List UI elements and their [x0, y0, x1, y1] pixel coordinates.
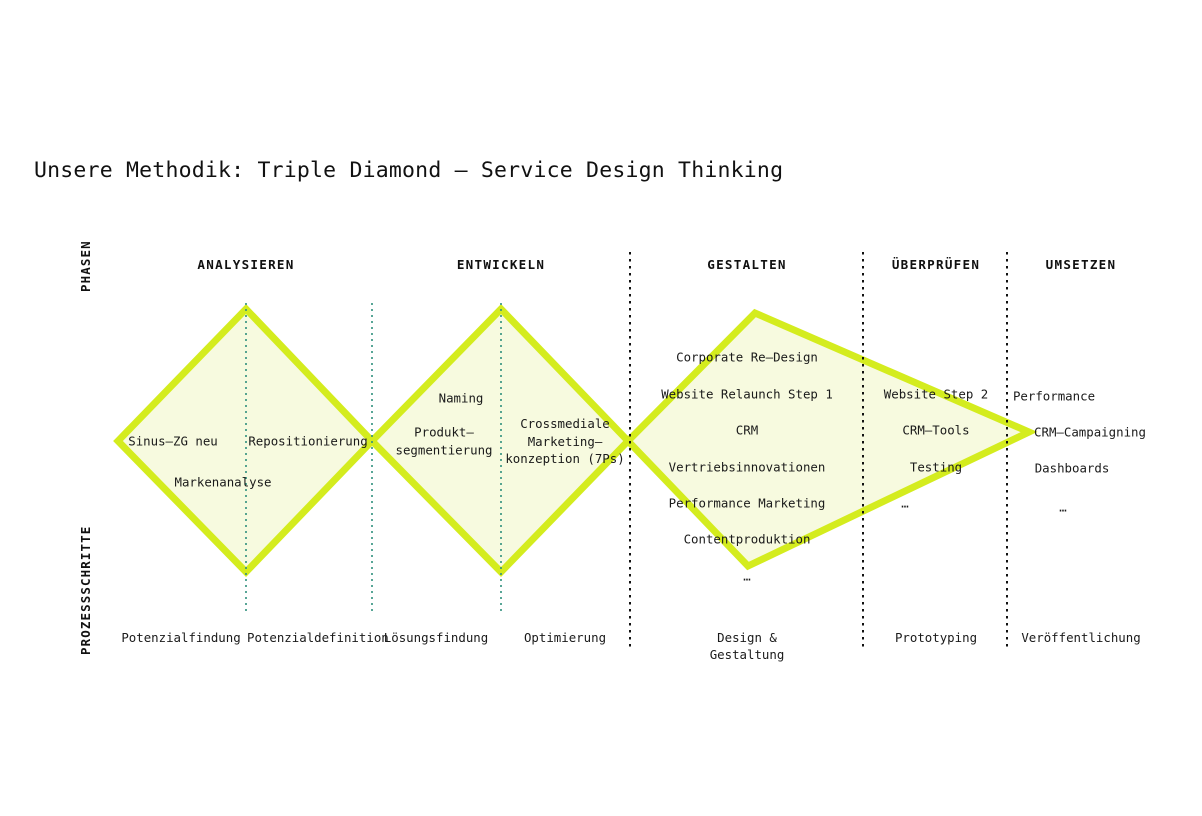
diamond-item-markenanalyse: Markenanalyse [175, 473, 272, 491]
phase-header-umsetzen: UMSETZEN [1046, 257, 1117, 272]
diamond-item-sinus-zg-neu: Sinus–ZG neu [128, 432, 218, 450]
process-step-loesungsfindung: Lösungsfindung [375, 629, 497, 646]
phase-header-analysieren: ANALYSIEREN [197, 257, 294, 272]
diamond-item-performance-marketing: Performance Marketing [669, 494, 826, 512]
diamond-item-contentproduktion: Contentproduktion [684, 530, 811, 548]
diamond-item-testing: Testing [910, 458, 962, 476]
process-step-veroeffentlichung: Veröffentlichung [1020, 629, 1142, 646]
process-step-prototyping: Prototyping [875, 629, 997, 646]
axis-label-phasen: PHASEN [78, 240, 93, 292]
process-step-design-gestaltung: Design & Gestaltung [686, 629, 808, 663]
phase-header-ueberpruefen: ÜBERPRÜFEN [892, 257, 980, 272]
phase-header-entwickeln: ENTWICKELN [457, 257, 545, 272]
diamond-item-performance: Performance [1013, 387, 1095, 405]
diamond-item-vertriebsinnovationen: Vertriebsinnovationen [669, 458, 826, 476]
diagram-canvas [0, 0, 1202, 816]
diamond-item-gestalten-ellipsis: … [743, 567, 750, 585]
diamond-item-ueberpruefen-ellipsis: … [901, 494, 908, 512]
diamond-item-crm: CRM [736, 421, 758, 439]
process-step-potenzialfindung: Potenzialfindung [120, 629, 242, 646]
diamond-item-website-relaunch-step-1: Website Relaunch Step 1 [661, 385, 833, 403]
diamond-item-crm-campaigning: CRM–Campaigning [1034, 423, 1146, 441]
process-step-optimierung: Optimierung [504, 629, 626, 646]
diamond-item-crm-tools: CRM–Tools [902, 421, 969, 439]
phase-header-gestalten: GESTALTEN [707, 257, 787, 272]
diamond-item-corporate-re-design: Corporate Re–Design [676, 348, 818, 366]
diamond-item-crossmediale-marketingkonzeption: Crossmediale Marketing– konzeption (7Ps) [505, 415, 624, 468]
page-title: Unsere Methodik: Triple Diamond — Servic… [34, 158, 783, 183]
diamond-item-produktsegmentierung: Produkt– segmentierung [396, 424, 493, 459]
diamond-item-dashboards: Dashboards [1035, 459, 1110, 477]
diamond-item-website-step-2: Website Step 2 [884, 385, 988, 403]
diamond-item-umsetzen-ellipsis: … [1059, 498, 1066, 516]
process-step-potenzialdefinition: Potenzialdefinition [247, 629, 369, 646]
diamond-item-naming: Naming [439, 389, 484, 407]
axis-label-prozessschritte: PROZESSSCHRITTE [78, 526, 93, 655]
diamond-item-repositionierung: Repositionierung [248, 432, 367, 450]
